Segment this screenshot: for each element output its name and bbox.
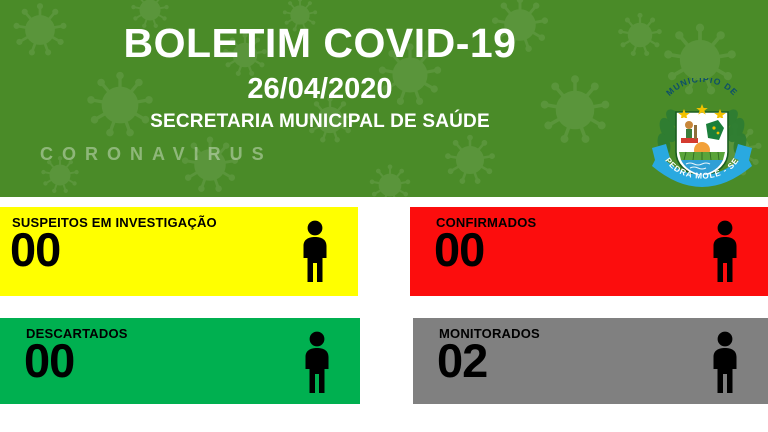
header-text-block: BOLETIM COVID-19 26/04/2020 SECRETARIA M… xyxy=(0,0,640,132)
crest-right-quarter xyxy=(703,118,726,144)
stat-value-descartados: 00 xyxy=(24,337,74,384)
person-icon xyxy=(300,331,334,395)
header-subtitle: SECRETARIA MUNICIPAL DE SAÚDE xyxy=(0,104,640,132)
crest-top-text: MUNICÍPIO DE xyxy=(664,78,740,98)
stat-card-descartados: DESCARTADOS 00 xyxy=(0,318,360,404)
bulletin-date: 26/04/2020 xyxy=(0,65,640,104)
stat-value-monitorados: 02 xyxy=(437,337,487,384)
person-icon xyxy=(708,331,742,395)
person-icon xyxy=(298,220,332,284)
crest-left-quarter xyxy=(678,118,701,144)
coronavirus-watermark-text: CORONAVIRUS xyxy=(40,144,273,165)
header-banner: BOLETIM COVID-19 26/04/2020 SECRETARIA M… xyxy=(0,0,768,197)
stat-card-monitorados: MONITORADOS 02 xyxy=(413,318,768,404)
page-title: BOLETIM COVID-19 xyxy=(0,0,640,65)
stat-card-confirmados: CONFIRMADOS 00 xyxy=(410,207,768,296)
stat-card-suspeitos: SUSPEITOS EM INVESTIGAÇÃO 00 xyxy=(0,207,358,296)
stat-value-suspeitos: 00 xyxy=(10,226,60,273)
municipality-crest: MUNICÍPIO DE PEDRA MOLE - SE xyxy=(648,78,756,190)
svg-text:MUNICÍPIO DE: MUNICÍPIO DE xyxy=(664,78,740,98)
stat-value-confirmados: 00 xyxy=(434,226,484,273)
person-icon xyxy=(708,220,742,284)
